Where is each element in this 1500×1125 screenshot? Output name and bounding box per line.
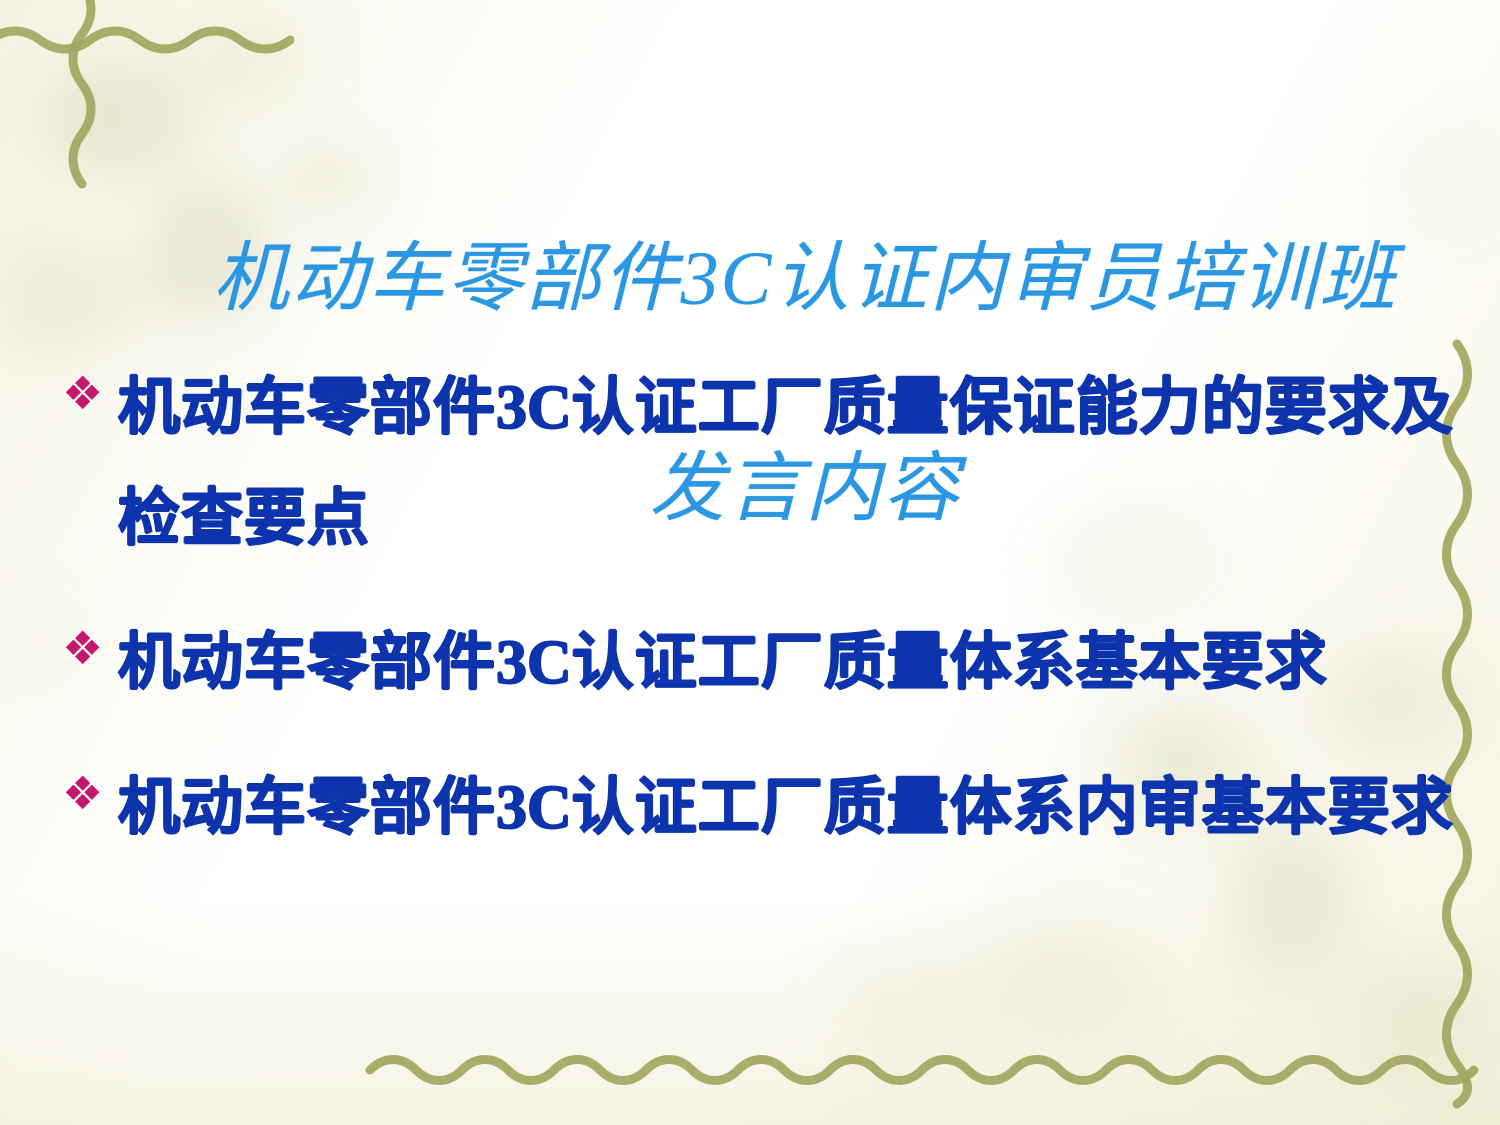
list-item: ❖ 机动车零部件3C认证工厂质量保证能力的要求及检查要点 <box>62 352 1462 573</box>
bullet-text: 机动车零部件3C认证工厂质量体系基本要求 <box>118 607 1462 718</box>
list-item: ❖ 机动车零部件3C认证工厂质量体系内审基本要求 <box>62 752 1462 863</box>
slide-title-line-1: 机动车零部件3C认证内审员培训班 <box>120 227 1490 332</box>
bullet-text: 机动车零部件3C认证工厂质量体系内审基本要求 <box>118 752 1462 863</box>
latin-text-run: 3C <box>496 774 572 842</box>
top-left-vertical-wave-decoration <box>60 0 104 204</box>
latin-text-run: 3C <box>496 374 572 442</box>
slide-canvas: 机动车零部件3C认证内审员培训班 发言内容 ❖ 机动车零部件3C认证工厂质量保证… <box>0 0 1500 1125</box>
list-item: ❖ 机动车零部件3C认证工厂质量体系基本要求 <box>62 607 1462 718</box>
diamond-bullet-icon: ❖ <box>62 752 118 834</box>
top-left-horizontal-wave-decoration <box>0 18 310 58</box>
latin-text-run: 3C <box>496 629 572 697</box>
bullet-list: ❖ 机动车零部件3C认证工厂质量保证能力的要求及检查要点 ❖ 机动车零部件3C认… <box>62 352 1462 897</box>
bottom-horizontal-wave-decoration <box>370 1040 1480 1096</box>
bullet-text: 机动车零部件3C认证工厂质量保证能力的要求及检查要点 <box>118 352 1462 573</box>
diamond-bullet-icon: ❖ <box>62 352 118 434</box>
diamond-bullet-icon: ❖ <box>62 607 118 689</box>
